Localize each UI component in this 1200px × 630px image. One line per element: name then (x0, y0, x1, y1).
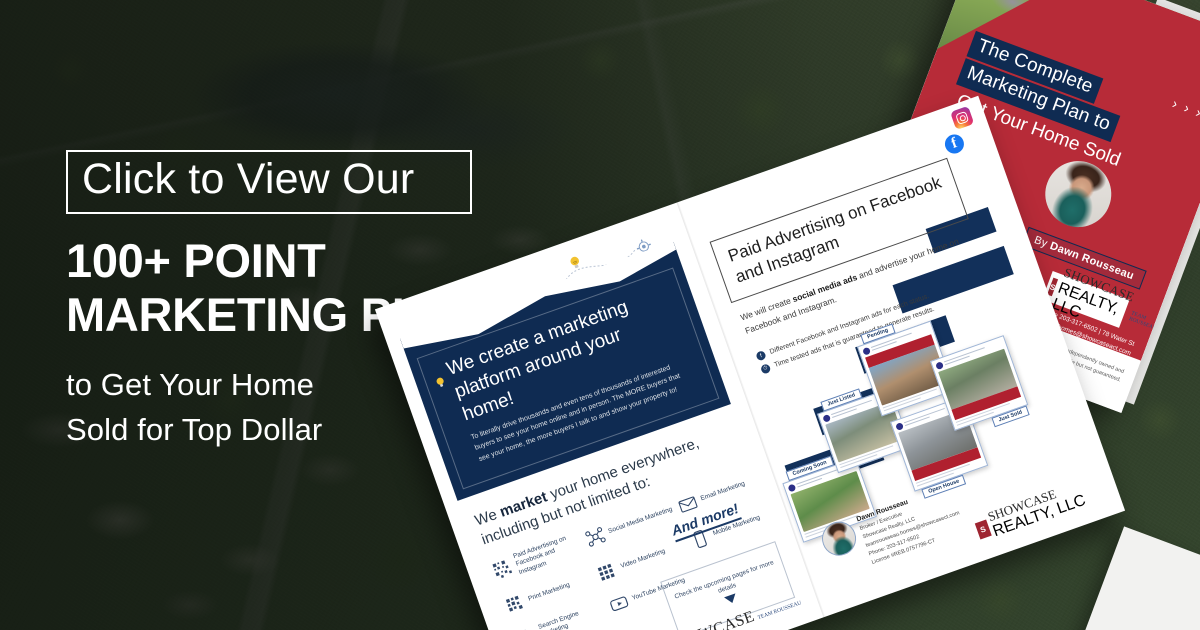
triangle-down-icon (724, 594, 738, 606)
channel-label: Search Engine Marketing (537, 601, 607, 630)
avatar (862, 347, 871, 356)
channel-label: Email Marketing (700, 480, 747, 503)
channel-label: Print Marketing (527, 581, 571, 603)
qr-ad-icon (490, 557, 516, 583)
print-icon (503, 592, 529, 618)
cta-label: Click to View Our (82, 156, 456, 202)
avatar (787, 484, 796, 493)
avatar (895, 422, 904, 431)
avatar (822, 414, 831, 423)
cta-button[interactable]: Click to View Our (66, 150, 472, 214)
channel-label: Paid Advertising on Facebook and Instagr… (512, 531, 584, 577)
facebook-icon: f (755, 350, 766, 361)
avatar (935, 361, 944, 370)
channel-label: Social Media Marketing (607, 506, 673, 536)
search-icon (514, 624, 540, 630)
team-label: TEAM ROUSSEAU (757, 600, 802, 621)
promo-banner: Click to View Our 100+ POINT MARKETING P… (0, 0, 1200, 630)
network-icon (583, 525, 609, 551)
film-icon (595, 559, 621, 585)
channel-label: Video Marketing (620, 547, 667, 570)
play-icon (606, 591, 632, 617)
